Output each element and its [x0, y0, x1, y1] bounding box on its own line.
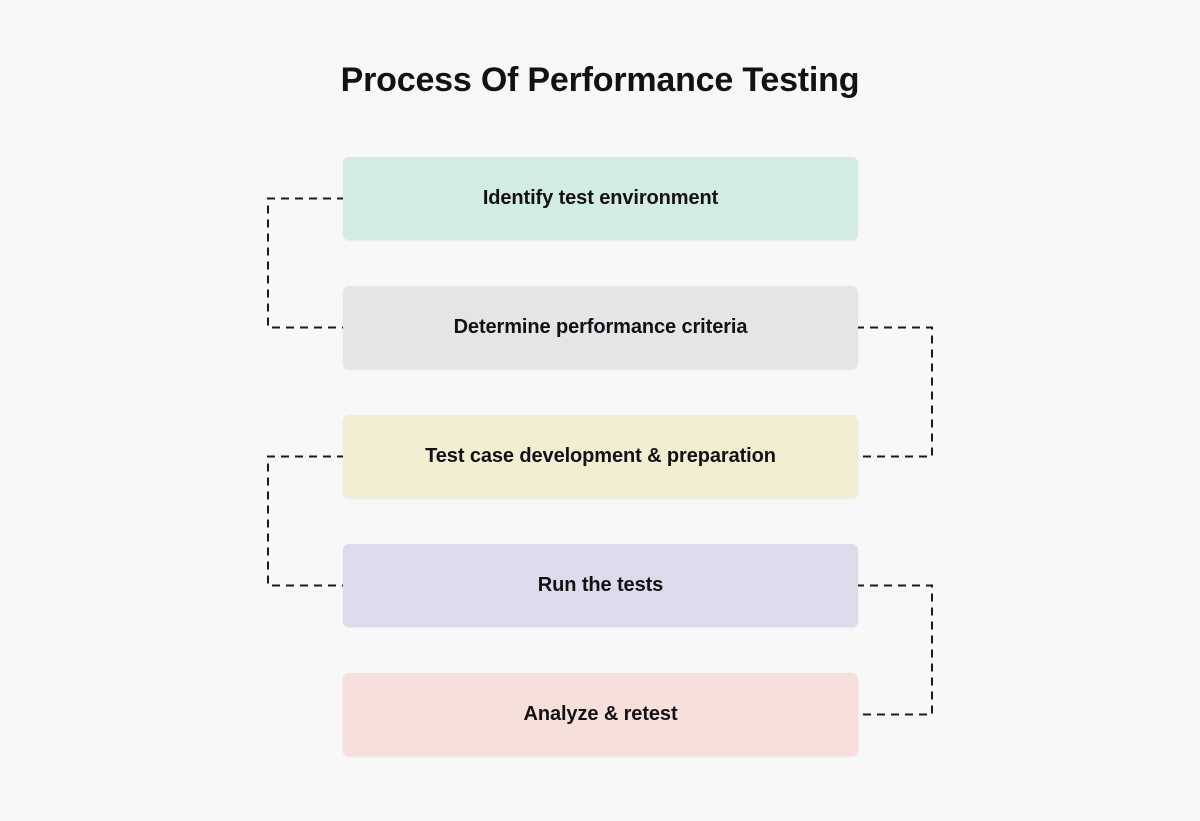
connector-step4-to-step5	[856, 586, 932, 715]
step-label: Determine performance criteria	[454, 316, 748, 339]
step-box-run-the-tests[interactable]: Run the tests	[343, 544, 858, 627]
step-label: Test case development & preparation	[425, 445, 776, 468]
step-label: Identify test environment	[483, 187, 718, 210]
step-label: Run the tests	[538, 574, 663, 597]
step-box-analyze-and-retest[interactable]: Analyze & retest	[343, 673, 858, 756]
step-box-test-case-development-and-preparation[interactable]: Test case development & preparation	[343, 415, 858, 498]
step-box-determine-performance-criteria[interactable]: Determine performance criteria	[343, 286, 858, 369]
diagram-canvas: Process Of Performance Testing Identify …	[0, 0, 1200, 821]
connector-step3-to-step4	[268, 457, 345, 586]
step-box-identify-test-environment[interactable]: Identify test environment	[343, 157, 858, 240]
connector-step2-to-step3	[856, 328, 932, 457]
page-title: Process Of Performance Testing	[0, 57, 1200, 103]
connector-step1-to-step2	[268, 199, 345, 328]
step-label: Analyze & retest	[523, 703, 677, 726]
